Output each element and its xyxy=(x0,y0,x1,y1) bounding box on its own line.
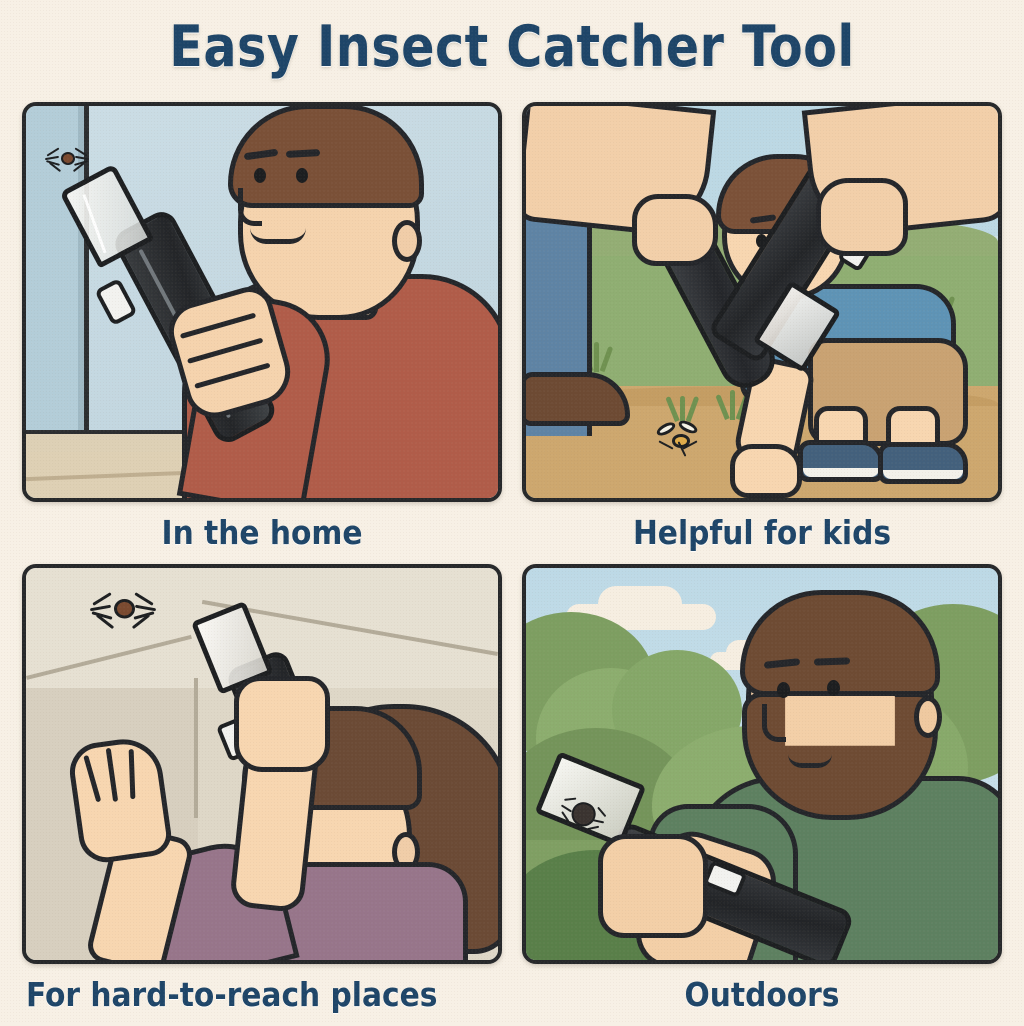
man-ear xyxy=(914,696,942,738)
panel-2[interactable] xyxy=(522,102,1002,502)
panel-2-caption: Helpful for kids xyxy=(522,502,1002,564)
panel-cell-1 xyxy=(22,102,502,502)
cloud xyxy=(598,586,682,622)
man-nose xyxy=(238,188,262,226)
caption-cell-2: Helpful for kids xyxy=(522,502,1002,564)
spider xyxy=(54,148,80,168)
man-eye-right xyxy=(296,168,308,183)
man-eye-left xyxy=(777,682,790,698)
grass-tuft xyxy=(666,392,706,422)
caption-cell-1: In the home xyxy=(22,502,502,564)
panel-4-caption: Outdoors xyxy=(522,964,1002,1026)
beetle-leg xyxy=(592,819,604,823)
adult-hand-right xyxy=(816,178,908,256)
man-eye-right xyxy=(827,680,840,696)
finger xyxy=(129,749,136,799)
page-title: Easy Insect Catcher Tool xyxy=(20,14,1003,80)
beetle-leg xyxy=(587,826,599,830)
man-mouth xyxy=(250,228,306,244)
panel-1-scene xyxy=(26,106,498,498)
panel-2-scene xyxy=(526,106,998,498)
finger-line xyxy=(194,363,270,389)
panel-grid: In the home Helpful for kids xyxy=(22,102,1002,984)
child-hand xyxy=(730,444,802,498)
panel-1[interactable] xyxy=(22,102,502,502)
panel-1-caption: In the home xyxy=(22,502,502,564)
finger xyxy=(106,748,118,802)
man-nose xyxy=(762,704,786,742)
adult-hand-left xyxy=(632,194,718,266)
infographic-poster: Easy Insect Catcher Tool xyxy=(0,0,1024,1024)
spider-body xyxy=(61,152,75,165)
man-eye-left xyxy=(254,168,266,183)
beetle-leg xyxy=(561,811,569,822)
panel-3-caption: For hard-to-reach places xyxy=(22,964,502,1026)
panel-cell-3 xyxy=(22,564,502,964)
panel-3-scene xyxy=(26,568,498,960)
beetle-leg xyxy=(564,798,576,801)
man-ear xyxy=(392,220,422,262)
child-shoe xyxy=(798,440,884,482)
caption-cell-4: Outdoors xyxy=(522,964,1002,984)
man-eyebrow-right xyxy=(814,657,850,665)
spider xyxy=(104,593,143,623)
panel-4[interactable] xyxy=(522,564,1002,964)
finger-line xyxy=(180,313,256,339)
finger xyxy=(83,755,101,803)
beetle-leg xyxy=(597,807,606,817)
panel-4-scene xyxy=(526,568,998,960)
panel-3[interactable] xyxy=(22,564,502,964)
man-hand xyxy=(598,834,708,938)
child-shoe xyxy=(878,442,968,484)
beetle-body xyxy=(568,799,599,830)
caption-cell-3: For hard-to-reach places xyxy=(22,964,502,984)
panel-cell-2 xyxy=(522,102,1002,502)
finger-line xyxy=(187,338,263,364)
tool-trigger-button[interactable] xyxy=(94,278,138,326)
panel-cell-4 xyxy=(522,564,1002,964)
woman-hand-holding-tool xyxy=(234,676,330,772)
flying-insect xyxy=(654,422,706,462)
spider-body xyxy=(114,599,135,619)
